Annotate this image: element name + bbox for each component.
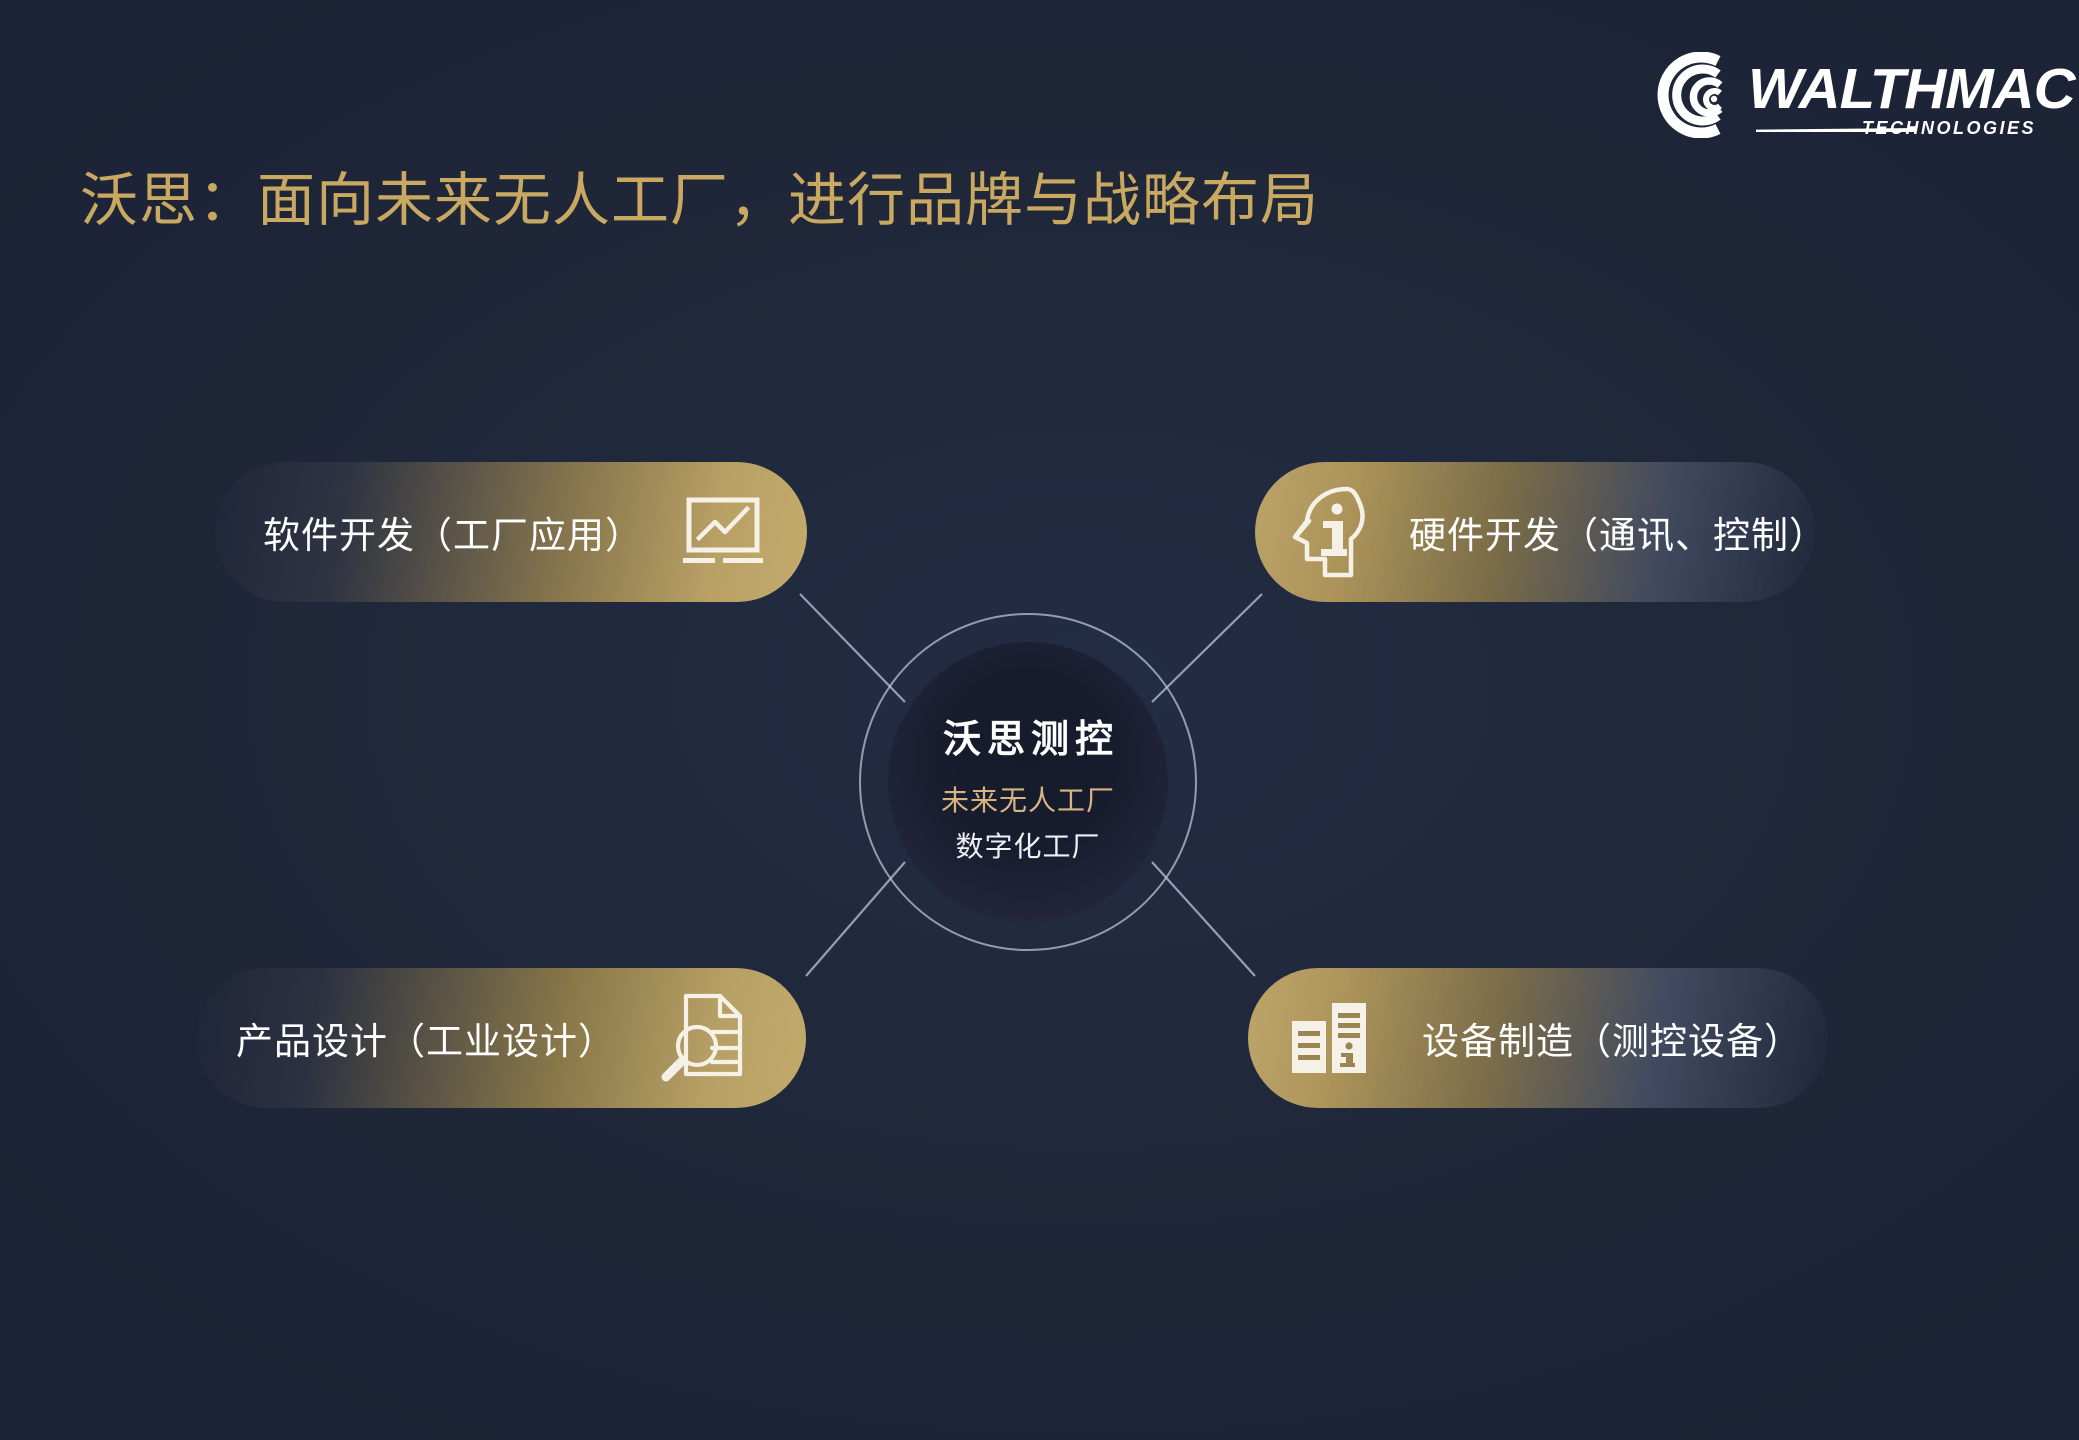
monitor-chart-icon bbox=[677, 494, 769, 570]
center-line-1: 未来无人工厂 bbox=[941, 779, 1115, 819]
node-software-label: 软件开发（工厂应用） bbox=[263, 505, 643, 559]
node-product-design[interactable]: 产品设计（工业设计） bbox=[196, 968, 806, 1108]
center-heading: 沃思测控 bbox=[937, 708, 1119, 763]
head-info-icon bbox=[1285, 483, 1371, 581]
node-hardware-label: 硬件开发（通讯、控制） bbox=[1409, 505, 1827, 559]
center-node: 沃思测控 未来无人工厂 数字化工厂 bbox=[878, 632, 1178, 932]
center-line-2: 数字化工厂 bbox=[955, 825, 1100, 865]
node-design-label: 产品设计（工业设计） bbox=[236, 1011, 616, 1065]
server-documents-icon bbox=[1290, 993, 1372, 1083]
node-hardware-development[interactable]: 硬件开发（通讯、控制） bbox=[1255, 462, 1815, 602]
node-equipment-label: 设备制造（测控设备） bbox=[1422, 1011, 1802, 1065]
node-software-development[interactable]: 软件开发（工厂应用） bbox=[215, 462, 807, 602]
document-search-icon bbox=[656, 990, 748, 1086]
slide-canvas: WALTHMAC TECHNOLOGIES 沃思：面向未来无人工厂，进行品牌与战… bbox=[0, 0, 2079, 1440]
node-equipment-manufacturing[interactable]: 设备制造（测控设备） bbox=[1248, 968, 1828, 1108]
